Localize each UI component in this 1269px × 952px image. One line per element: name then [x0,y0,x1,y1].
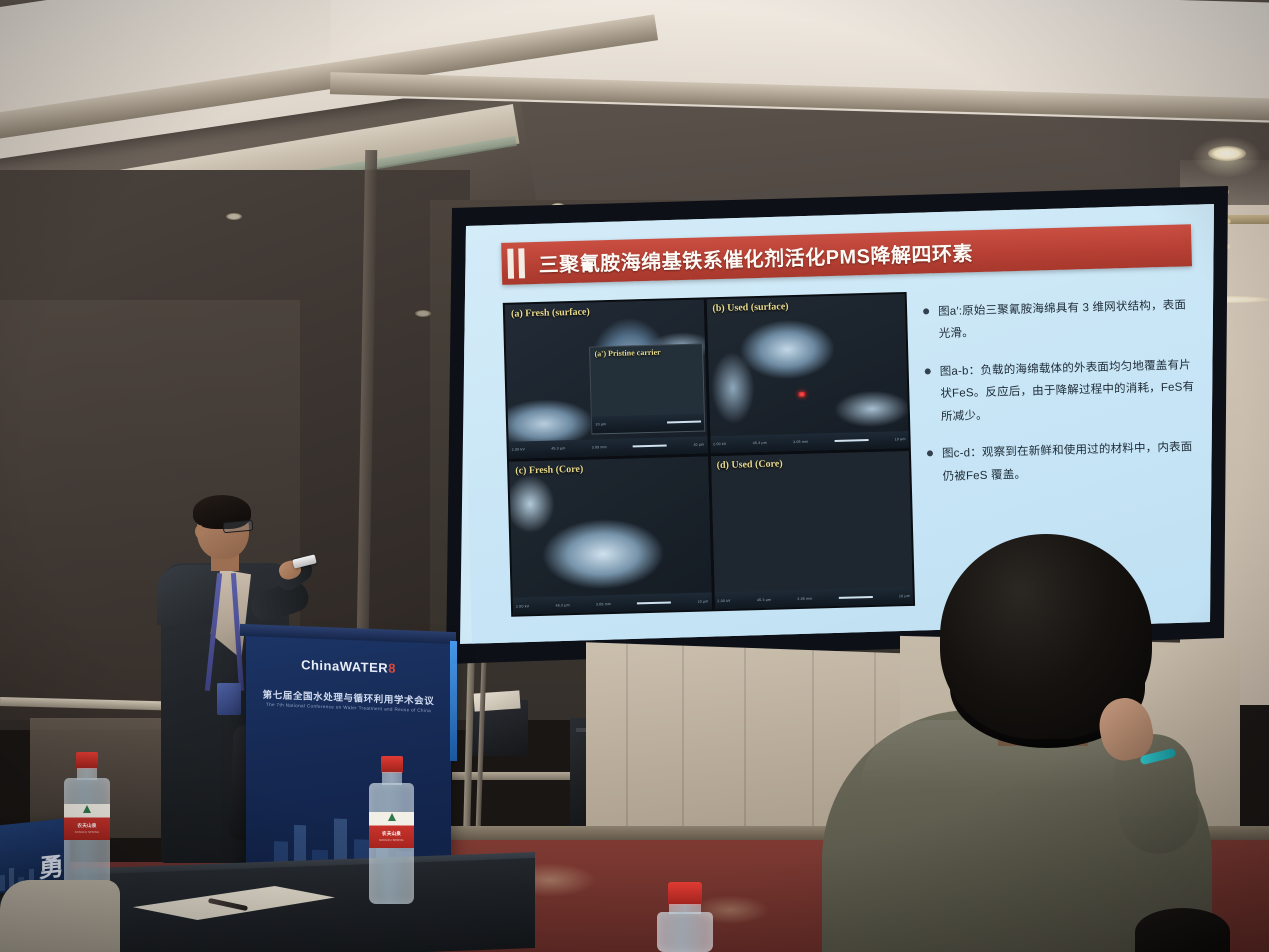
sem-panel-a: (a) Fresh (surface) (a') Pristine carrie… [505,299,708,458]
sem-panel-b: (b) Used (surface) 2.00 kV 45.3 μm 3.05 … [706,294,909,453]
sem-scale-line-c [637,601,671,604]
audience-chair-left [0,880,120,952]
logo-text-1: China [301,657,340,673]
spring-tree-icon [83,805,91,813]
sem-label-b: (b) Used (surface) [712,301,788,314]
sem-scale-line-a [633,444,667,447]
ceiling-light-8 [226,213,242,220]
water-bottle-front [657,882,713,952]
bottle-brand-en: NONGFU SPRING [369,839,414,842]
conference-logo: ChinaWATER8 [246,655,451,678]
spring-tree-icon [388,813,396,821]
slide-title-bar: 三聚氰胺海绵基铁系催化剂活化PMS降解四环素 [501,224,1192,285]
slide-title: 三聚氰胺海绵基铁系催化剂活化PMS降解四环素 [538,237,973,278]
bullet-text-3: 图c-d：观察到在新鲜和使用过的材料中，内表面仍被FeS 覆盖。 [942,436,1200,488]
presenter-ear [195,525,204,538]
bullet-item-3: 图c-d：观察到在新鲜和使用过的材料中，内表面仍被FeS 覆盖。 [927,436,1200,488]
sem-meta-b-2: 45.3 μm [753,441,767,445]
sem-meta-a-3: 3.05 mm [592,445,607,449]
ceiling-light-9 [415,310,431,317]
sem-label-inset: (a') Pristine carrier [594,347,660,358]
sem-meta-a-2: 45.3 μm [551,446,565,450]
logo-badge: 8 [388,661,396,676]
sem-texture-c [509,456,712,615]
bullet-text-1: 图a′:原始三聚氰胺海绵具有 3 维网状结构，表面光滑。 [938,294,1196,346]
sem-meta-a-1: 2.00 kV [512,447,525,451]
water-bottle-left: 农夫山泉 NONGFU SPRING [64,752,110,892]
bottle-body [657,912,713,952]
presenter-lanyard [211,573,243,693]
sem-meta-c-1: 2.00 kV [516,604,529,608]
logo-text-2: WATER [340,659,388,676]
bottle-label: 农夫山泉 NONGFU SPRING [64,804,110,840]
audience-member-front [800,520,1220,952]
sem-meta-d-2: 45.3 μm [757,597,771,601]
bullet-dot-icon-1 [923,308,929,314]
sem-scale-text-a: 10 μm [693,442,704,446]
bullet-item-1: 图a′:原始三聚氰胺海绵具有 3 维网状结构，表面光滑。 [923,294,1196,346]
sem-label-d: (d) Used (Core) [717,458,783,471]
sem-meta-b-1: 2.00 kV [713,442,726,446]
sem-meta-c-2: 45.3 μm [555,603,569,607]
podium-light-strip [450,641,457,761]
conference-room-photo: 三聚氰胺海绵基铁系催化剂活化PMS降解四环素 (a) Fresh (surfac… [0,0,1269,952]
audience-member-right [1135,908,1230,952]
sem-meta-b-3: 3.05 mm [793,440,808,444]
slide-bullet-list: 图a′:原始三聚氰胺海绵具有 3 维网状结构，表面光滑。 图a-b：负载的海绵载… [923,294,1200,503]
sem-scalebar-inset: 10 μm [592,413,704,433]
sem-meta-d-1: 2.00 kV [717,598,730,602]
sem-scale-text-c: 10 μm [698,599,709,603]
presenter-badge [217,683,241,715]
bottle-cap-icon [76,752,98,769]
sem-scale-text-b: 10 μm [895,437,906,441]
bottle-cap-icon [668,882,702,906]
sem-meta-c-3: 3.05 mm [596,602,611,606]
sem-texture-b [706,294,909,453]
bottle-label: 农夫山泉 NONGFU SPRING [369,812,414,848]
bullet-dot-icon-3 [927,450,933,456]
bottle-brand-en: NONGFU SPRING [64,831,110,834]
bullet-text-2: 图a-b：负载的海绵载体的外表面均匀地覆盖有片状FeS。反应后，由于降解过程中的… [939,354,1198,428]
sem-inset-pristine: (a') Pristine carrier 10 μm [589,343,704,434]
sem-scale-line-inset [667,421,701,424]
sem-meta-inset: 10 μm [595,422,606,426]
ceiling-light-1 [1208,146,1246,161]
sem-label-c: (c) Fresh (Core) [515,463,583,476]
bullet-item-2: 图a-b：负载的海绵载体的外表面均匀地覆盖有片状FeS。反应后，由于降解过程中的… [924,354,1198,429]
bottle-brand-cn: 农夫山泉 [64,823,110,829]
bottle-cap-icon [381,756,403,773]
sem-label-a: (a) Fresh (surface) [511,307,590,320]
laser-pointer-dot [798,392,805,397]
bottle-brand-cn: 农夫山泉 [369,831,414,837]
sem-panel-c: (c) Fresh (Core) 2.00 kV 45.3 μm 3.05 mm… [509,456,712,615]
water-bottle-mid: 农夫山泉 NONGFU SPRING [369,756,414,904]
sem-scale-line-b [834,439,868,442]
bullet-dot-icon-2 [925,368,931,374]
title-accent-bars [507,248,525,278]
